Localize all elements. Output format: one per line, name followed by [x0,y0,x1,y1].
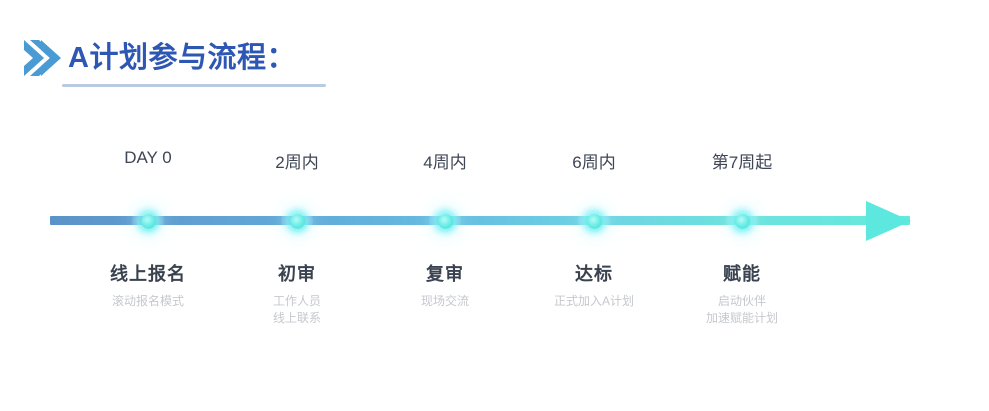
page-header: A计划参与流程： [0,0,989,110]
timeline-node-dot[interactable] [429,205,461,237]
title-underline-divider [62,84,326,87]
double-chevron-right-icon [22,38,68,78]
timeline-track [50,216,910,225]
timeline-node-dot[interactable] [132,205,164,237]
process-timeline: DAY 0 线上报名 滚动报名模式 2周内 初审 工作人员 线上联系 4周内 复… [0,110,989,411]
timeline-node-core [735,214,750,229]
timeline-node-core [141,214,156,229]
timeline-node-dot[interactable] [281,205,313,237]
step-time-label: 第7周起 [642,148,842,173]
timeline-node-core [438,214,453,229]
step-title-label: 赋能 [642,260,842,286]
step-description-line: 启动伙伴 [642,293,842,310]
step-description-line: 线上联系 [197,310,397,327]
step-description: 启动伙伴 加速赋能计划 [642,293,842,327]
step-description-line: 加速赋能计划 [642,310,842,327]
timeline-node-dot[interactable] [578,205,610,237]
timeline-node-core [290,214,305,229]
timeline-node-dot[interactable] [726,205,758,237]
page-title: A计划参与流程： [68,38,296,78]
timeline-node-core [587,214,602,229]
timeline-arrow-head-icon [866,201,911,241]
